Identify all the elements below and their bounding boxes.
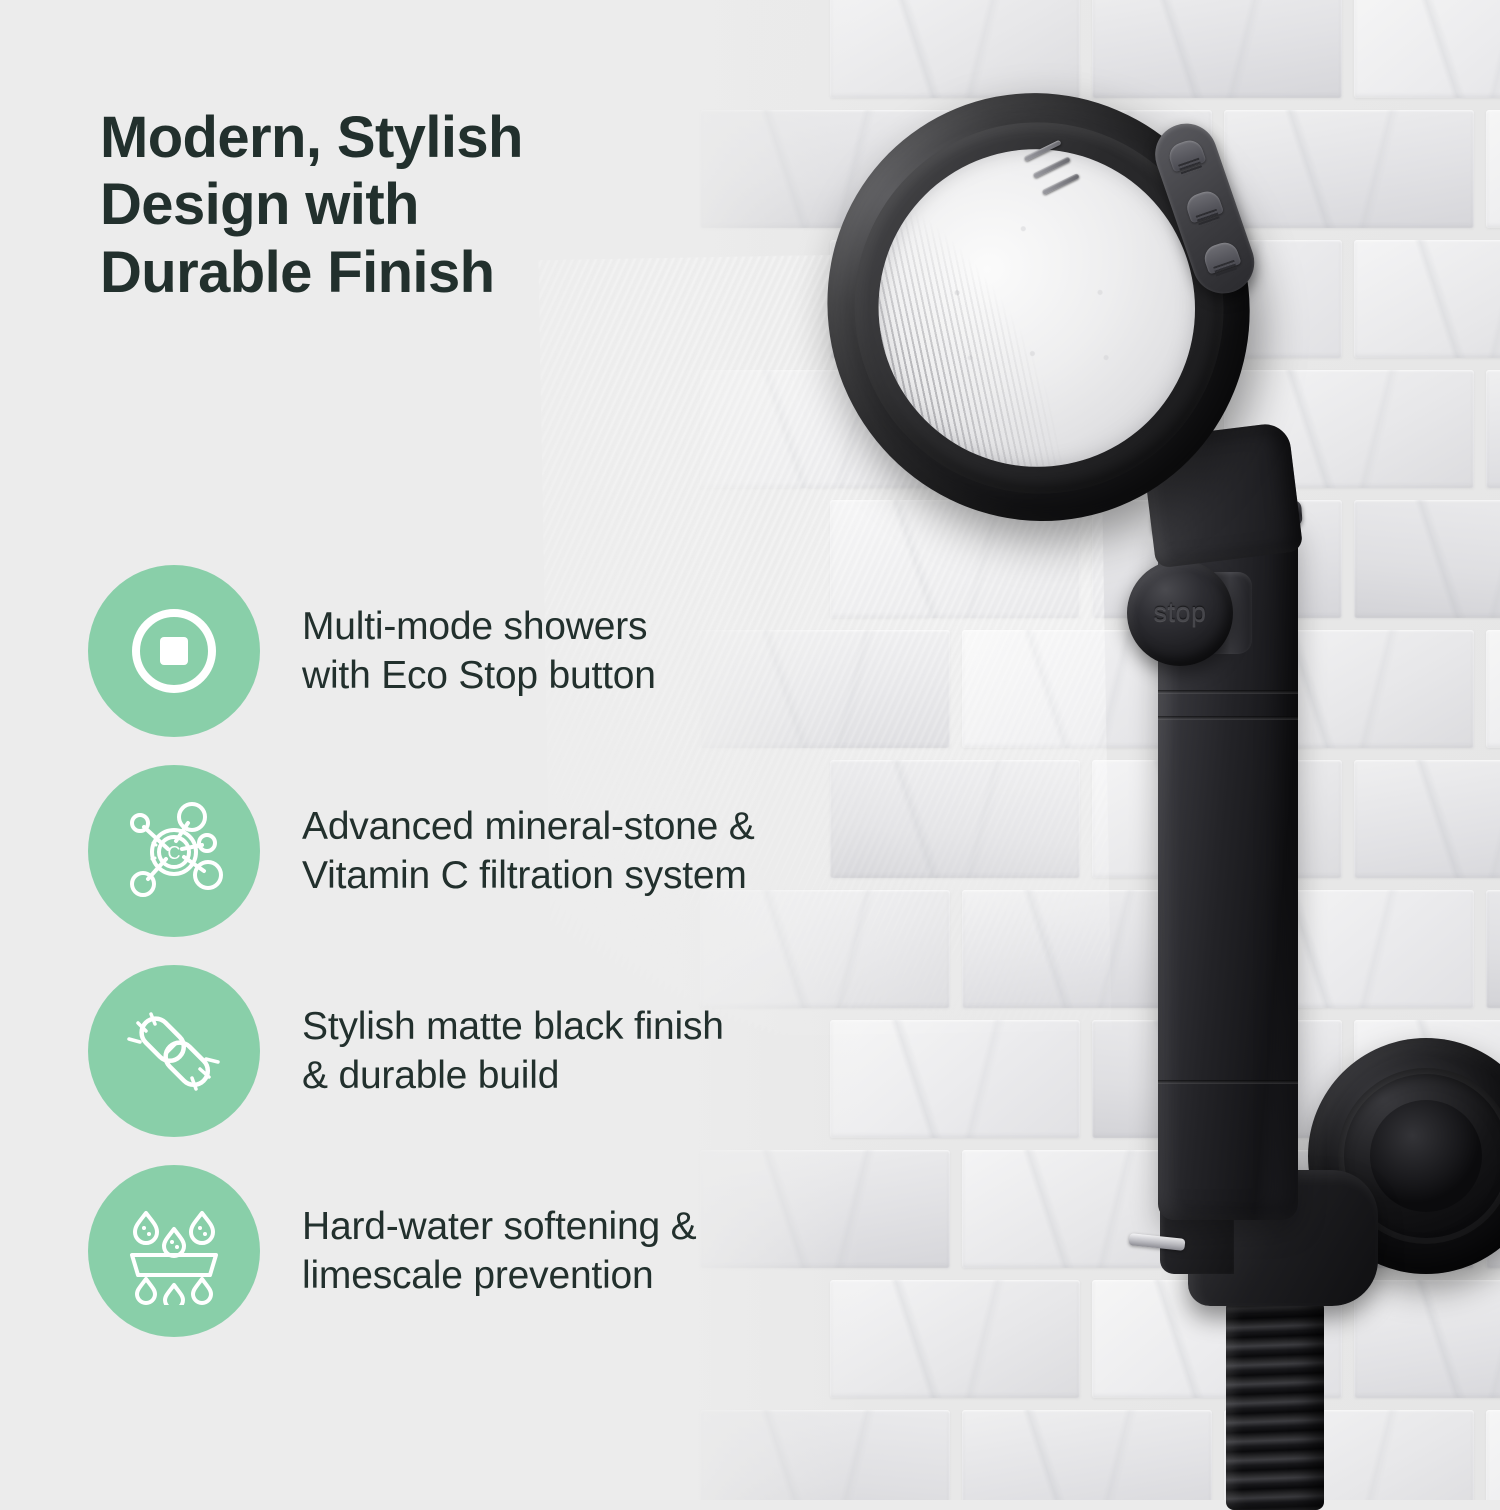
spray-mode-3-icon[interactable] [1201, 239, 1242, 275]
feature-4-line-1: Hard-water softening & [302, 1202, 696, 1251]
feature-2-line-2: Vitamin C filtration system [302, 851, 755, 900]
feature-text-finish: Stylish matte black finish & durable bui… [302, 1002, 724, 1100]
feature-3-line-2: & durable build [302, 1051, 724, 1100]
feature-item-finish: Stylish matte black finish & durable bui… [88, 951, 1028, 1151]
svg-text:C: C [168, 843, 181, 863]
headline-line-3: Durable Finish [100, 239, 740, 306]
feature-1-line-2: with Eco Stop button [302, 651, 656, 700]
feature-1-line-1: Multi-mode showers [302, 602, 656, 651]
feature-text-softening: Hard-water softening & limescale prevent… [302, 1202, 696, 1300]
spray-mode-2-icon[interactable] [1183, 188, 1224, 224]
feature-list: Multi-mode showers with Eco Stop button … [88, 551, 1028, 1351]
feature-2-line-1: Advanced mineral-stone & [302, 802, 755, 851]
feature-4-line-2: limescale prevention [302, 1251, 696, 1300]
feature-item-filtration: C Advanced mineral-stone & Vitamin C fil… [88, 751, 1028, 951]
shower-hose [1226, 1300, 1324, 1510]
eco-stop-button[interactable]: stop [1127, 560, 1233, 666]
stop-button-icon [88, 565, 260, 737]
feature-item-multi-mode: Multi-mode showers with Eco Stop button [88, 551, 1028, 751]
feature-text-multi-mode: Multi-mode showers with Eco Stop button [302, 602, 656, 700]
feature-3-line-1: Stylish matte black finish [302, 1002, 724, 1051]
water-filter-droplets-icon [88, 1165, 260, 1337]
vitamin-c-molecule-icon: C [88, 765, 260, 937]
page-title: Modern, Stylish Design with Durable Fini… [100, 104, 740, 306]
stop-button-label: stop [1153, 597, 1206, 628]
headline-line-1: Modern, Stylish [100, 104, 740, 171]
feature-item-softening: Hard-water softening & limescale prevent… [88, 1151, 1028, 1351]
feature-text-filtration: Advanced mineral-stone & Vitamin C filtr… [302, 802, 755, 900]
headline-line-2: Design with [100, 171, 740, 238]
spray-mode-1-icon[interactable] [1166, 137, 1207, 173]
chain-link-shine-icon [88, 965, 260, 1137]
